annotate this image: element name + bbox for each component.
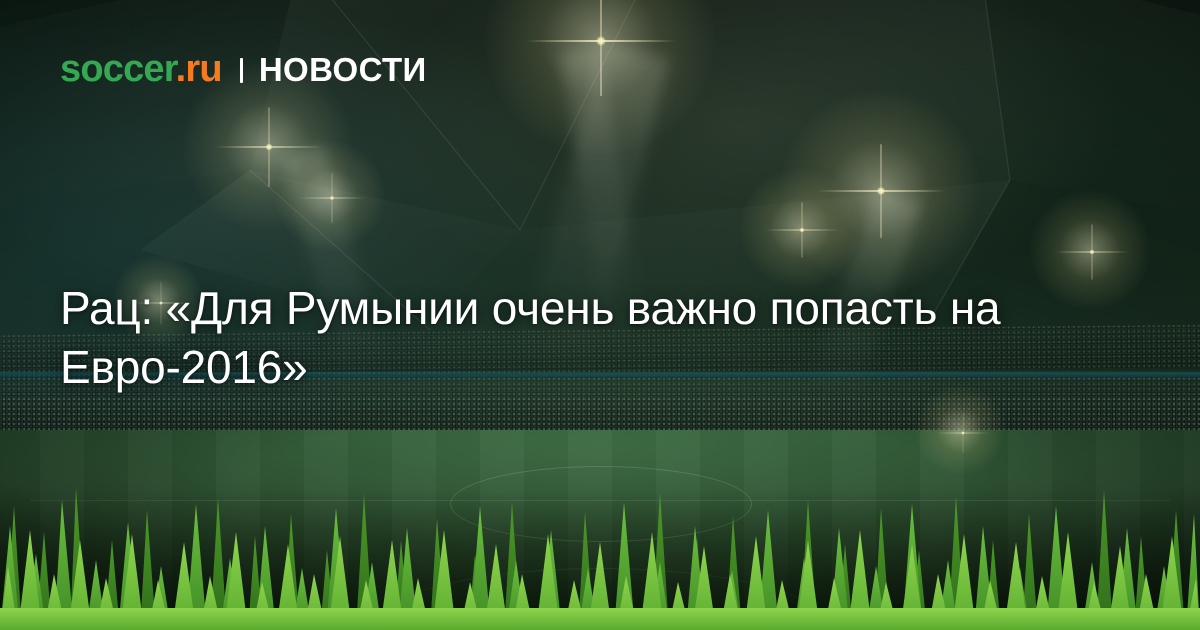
logo-brand-text: soccer	[60, 48, 176, 90]
foreground-grass	[0, 470, 1200, 630]
news-share-card: soccer.ru НОВОСТИ Рац: «Для Румынии очен…	[0, 0, 1200, 630]
site-logo[interactable]: soccer.ru	[60, 48, 222, 91]
logo-tld-text: .ru	[176, 48, 222, 90]
section-label: НОВОСТИ	[259, 51, 427, 89]
header-separator	[240, 58, 243, 83]
page-title: Рац: «Для Румынии очень важно попасть на…	[60, 279, 1020, 397]
brand-header: soccer.ru НОВОСТИ	[60, 48, 427, 91]
